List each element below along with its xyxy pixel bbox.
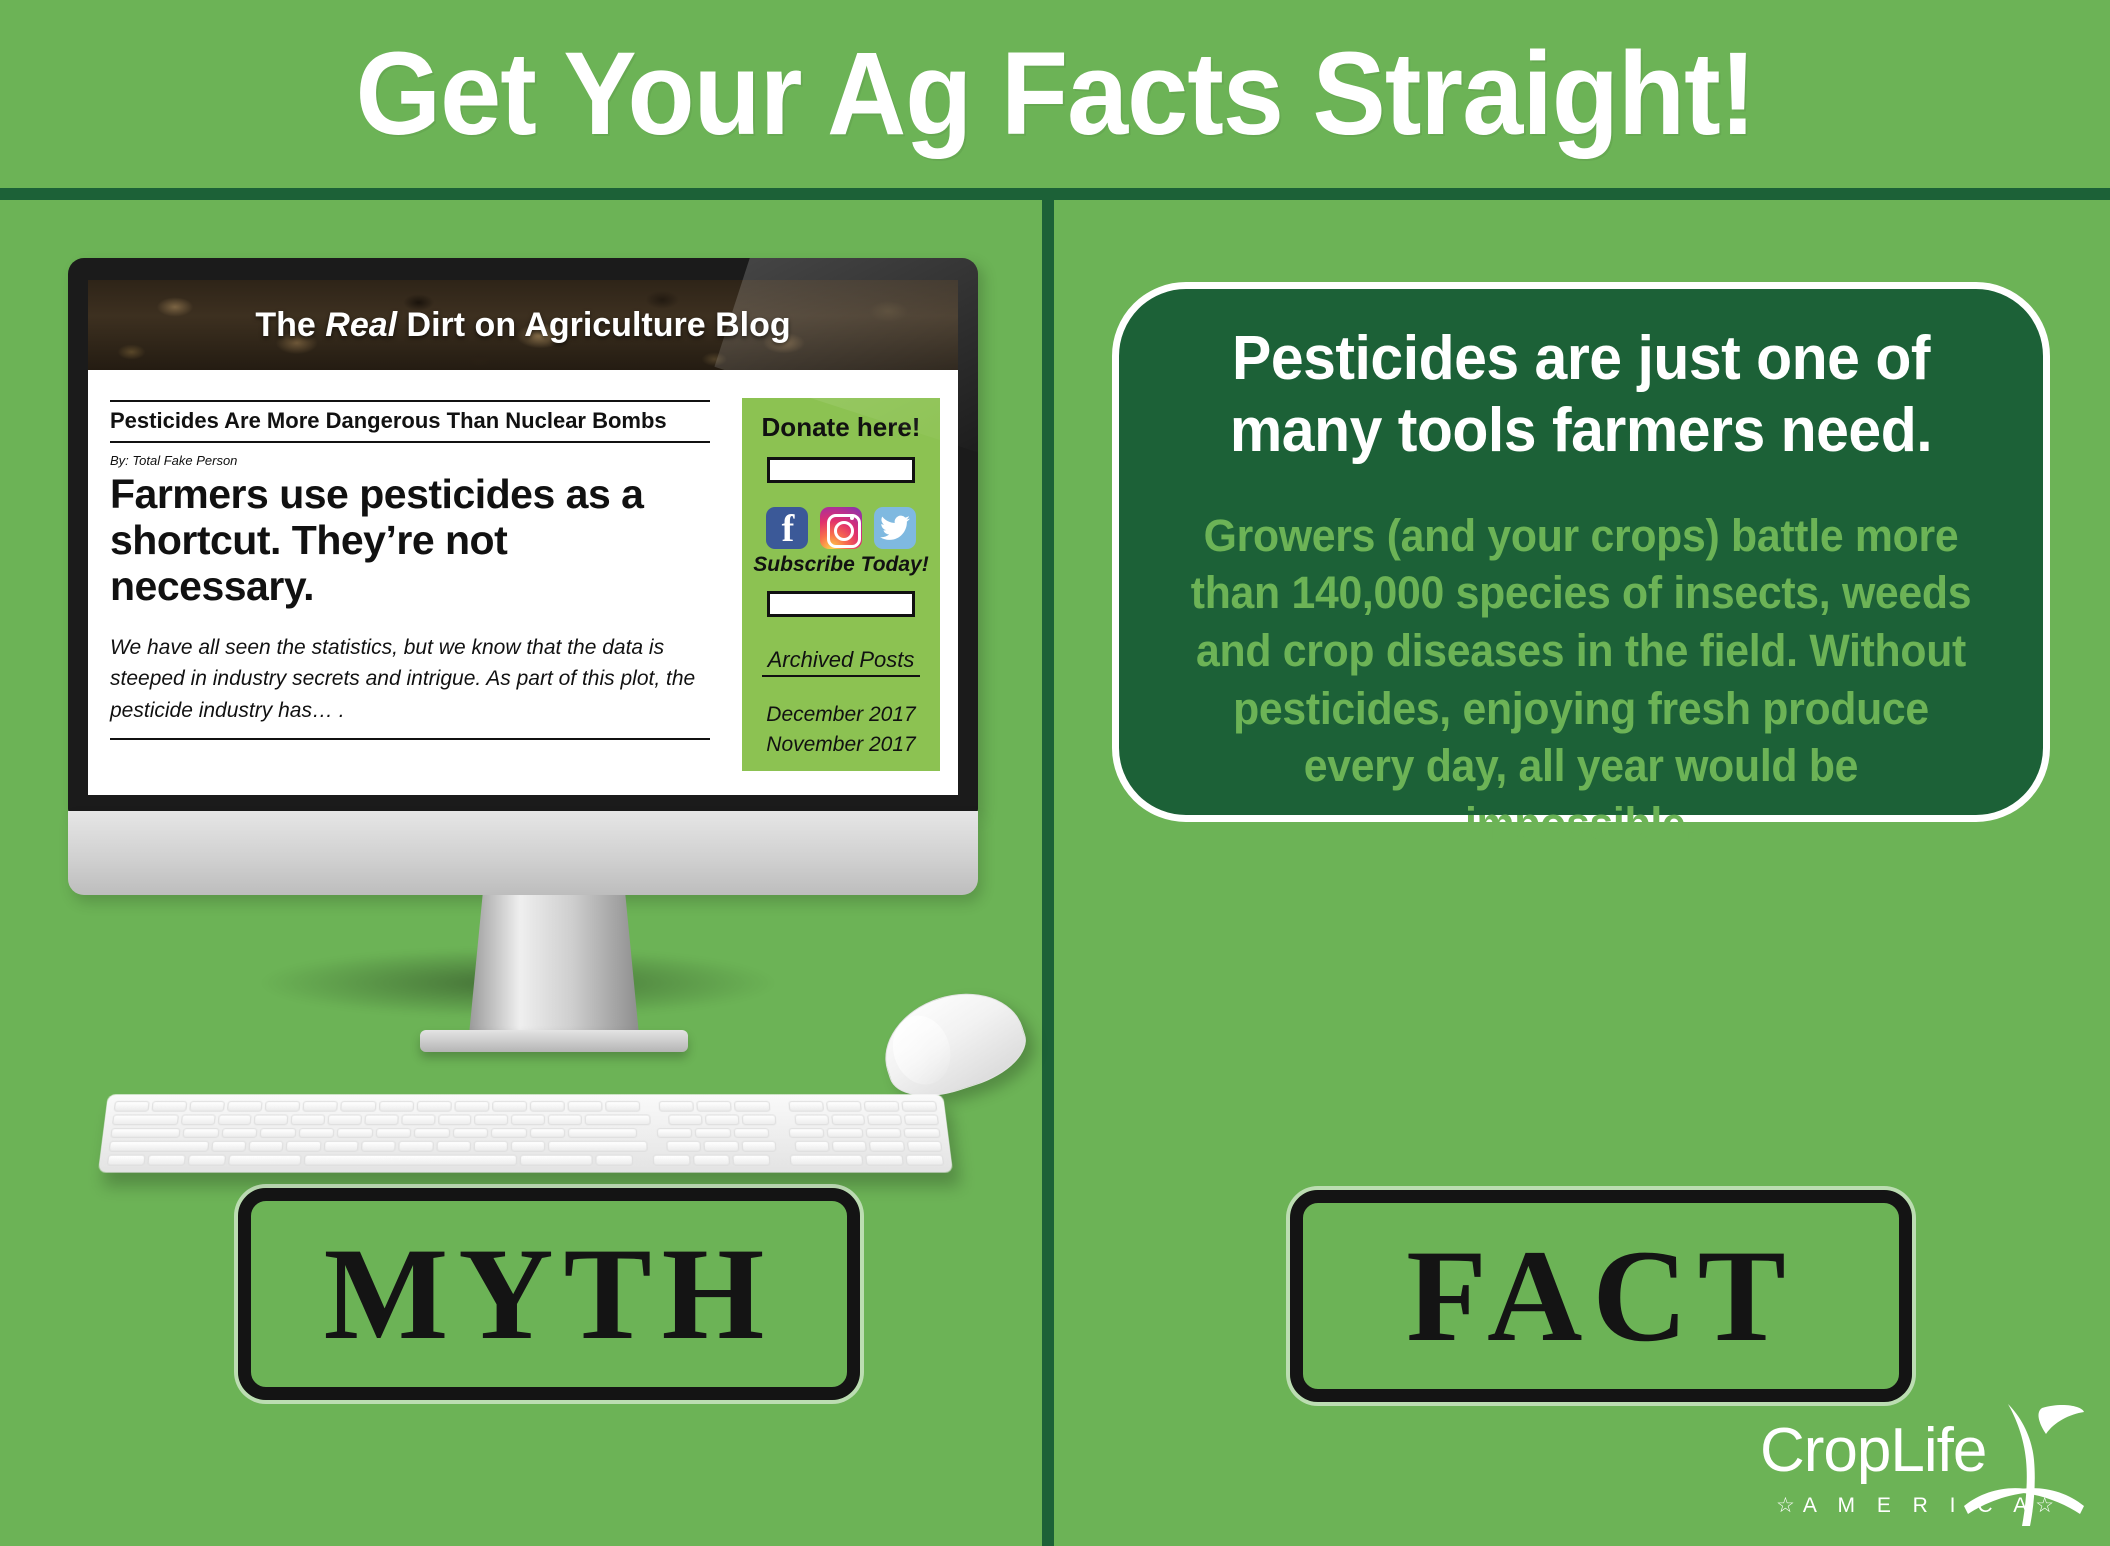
keyboard-key: [211, 1141, 246, 1152]
archive-month-november[interactable]: November 2017: [752, 733, 930, 757]
croplife-america-logo: CropLife ☆A M E R I C A☆: [1760, 1402, 2080, 1530]
keyboard-key: [511, 1141, 545, 1152]
subscribe-heading: Subscribe Today!: [752, 553, 930, 577]
keyboard-key: [249, 1141, 284, 1152]
keyboard-key: [110, 1128, 180, 1139]
keyboard-key: [401, 1114, 435, 1124]
keyboard-key: [865, 1155, 903, 1166]
keyboard-key: [492, 1101, 527, 1111]
keyboard-key: [864, 1101, 900, 1111]
logo-wordmark: CropLife: [1760, 1415, 1986, 1486]
keyboard-key: [436, 1141, 471, 1152]
keyboard-key: [511, 1114, 545, 1124]
logo-star-left: ☆: [1776, 1494, 1803, 1517]
keyboard-key: [734, 1101, 770, 1111]
keyboard-key: [260, 1128, 296, 1139]
donate-heading: Donate here!: [752, 412, 930, 443]
keyboard-key: [734, 1128, 770, 1139]
keyboard-key: [475, 1114, 509, 1124]
keyboard-key: [530, 1101, 565, 1111]
blog-banner-title-post: Dirt on Agriculture Blog: [397, 306, 791, 344]
keyboard-key: [265, 1101, 301, 1111]
monitor-stand-neck: [469, 895, 639, 1035]
fact-headline: Pesticides are just one of many tools fa…: [1184, 323, 1978, 467]
donate-input[interactable]: [767, 457, 915, 483]
desktop-monitor-illustration: The Real Dirt on Agriculture Blog Pestic…: [68, 258, 978, 898]
monitor-chin: [68, 811, 978, 895]
blog-banner-title: The Real Dirt on Agriculture Blog: [255, 306, 790, 345]
keyboard-key: [324, 1141, 359, 1152]
keyboard-key: [152, 1101, 188, 1111]
keyboard-spacer: [779, 1141, 793, 1152]
keyboard-key: [827, 1128, 864, 1139]
keyboard-row: [114, 1101, 938, 1111]
keyboard-key: [901, 1101, 937, 1111]
keyboard-key-command: [228, 1155, 301, 1166]
post-byline: By: Total Fake Person: [110, 443, 710, 472]
keyboard-key: [659, 1101, 694, 1111]
keyboard-row: [107, 1155, 944, 1166]
keyboard-key: [788, 1128, 824, 1139]
myth-stamp-label: MYTH: [324, 1228, 775, 1360]
keyboard-key: [474, 1141, 509, 1152]
instagram-dot: [850, 516, 854, 520]
keyboard-key: [188, 1155, 226, 1166]
keyboard-key: [832, 1141, 867, 1152]
keyboard-spacer: [643, 1101, 657, 1111]
keyboard-key: [438, 1114, 472, 1124]
keyboard-key: [328, 1114, 362, 1124]
keyboard-key: [189, 1101, 225, 1111]
keyboard-key: [865, 1128, 902, 1139]
keyboard-key: [107, 1155, 146, 1166]
post-excerpt: We have all seen the statistics, but we …: [110, 632, 710, 741]
keyboard-key: [794, 1114, 829, 1124]
keyboard-key: [907, 1141, 943, 1152]
keyboard-key: [826, 1101, 862, 1111]
keyboard-key: [221, 1128, 257, 1139]
keyboard-key: [379, 1101, 414, 1111]
keyboard-key: [414, 1128, 450, 1139]
keyboard-key: [742, 1114, 776, 1124]
keyboard-key: [183, 1128, 220, 1139]
keyboard-key: [568, 1101, 603, 1111]
computer-keyboard: [98, 1094, 953, 1172]
keyboard-key: [605, 1101, 640, 1111]
keyboard-key: [669, 1114, 703, 1124]
monitor-stand-base: [420, 1030, 688, 1052]
social-links: [752, 507, 930, 549]
sprout-icon: [1964, 1402, 2084, 1528]
instagram-lens: [834, 521, 854, 541]
keyboard-key: [704, 1141, 739, 1152]
keyboard-key: [695, 1128, 731, 1139]
keyboard-spacer: [772, 1128, 786, 1139]
blog-banner-title-pre: The: [255, 306, 325, 344]
keyboard-key: [112, 1114, 179, 1124]
keyboard-key: [568, 1128, 637, 1139]
keyboard-key: [904, 1114, 939, 1124]
keyboard-key: [585, 1114, 651, 1124]
blog-banner: The Real Dirt on Agriculture Blog: [88, 280, 958, 370]
keyboard-spacer: [778, 1114, 792, 1124]
keyboard-key: [741, 1141, 776, 1152]
keyboard-key: [337, 1128, 373, 1139]
keyboard-key: [453, 1128, 489, 1139]
keyboard-key: [254, 1114, 289, 1124]
twitter-icon[interactable]: [874, 507, 916, 549]
post-kicker: Pesticides Are More Dangerous Than Nucle…: [110, 402, 710, 443]
keyboard-key: [666, 1141, 701, 1152]
keyboard-key: [904, 1128, 941, 1139]
keyboard-key: [181, 1114, 216, 1124]
fact-stamp: FACT: [1290, 1190, 1912, 1402]
fact-panel: Pesticides are just one of many tools fa…: [1112, 282, 2050, 822]
keyboard-key-arrow: [733, 1155, 771, 1166]
keyboard-key: [906, 1155, 945, 1166]
keyboard-key: [530, 1128, 566, 1139]
blog-banner-title-emphasis: Real: [325, 306, 397, 344]
monitor-screen: The Real Dirt on Agriculture Blog Pestic…: [88, 280, 958, 795]
keyboard-key: [303, 1101, 338, 1111]
keyboard-key: [595, 1155, 632, 1166]
blog-post: Pesticides Are More Dangerous Than Nucle…: [88, 370, 732, 795]
keyboard-key: [286, 1141, 321, 1152]
keyboard-key: [416, 1101, 451, 1111]
keyboard-key: [869, 1141, 905, 1152]
blog-sidebar: Donate here! Subscribe Today!: [742, 398, 940, 771]
fact-stamp-label: FACT: [1406, 1230, 1796, 1362]
keyboard-key: [795, 1141, 830, 1152]
keyboard-key: [217, 1114, 252, 1124]
keyboard-row: [109, 1141, 943, 1152]
blog-body: Pesticides Are More Dangerous Than Nucle…: [88, 370, 958, 795]
keyboard-key: [705, 1114, 739, 1124]
facebook-icon[interactable]: [766, 507, 808, 549]
keyboard-key-shift: [548, 1141, 647, 1152]
archive-month-december[interactable]: December 2017: [752, 703, 930, 727]
keyboard-spacer: [773, 1155, 788, 1166]
archived-posts-link[interactable]: Archived Posts: [762, 647, 921, 677]
keyboard-key: [454, 1101, 489, 1111]
keyboard-key: [790, 1155, 863, 1166]
keyboard-key: [697, 1101, 732, 1111]
keyboard-key: [291, 1114, 325, 1124]
keyboard-spacer: [635, 1155, 649, 1166]
keyboard-spacer: [651, 1141, 664, 1152]
keyboard-key: [548, 1114, 582, 1124]
keyboard-key: [341, 1101, 376, 1111]
keyboard-key: [298, 1128, 334, 1139]
keyboard-spacer: [772, 1101, 786, 1111]
keyboard-key-command: [520, 1155, 593, 1166]
keyboard-key: [375, 1128, 411, 1139]
subscribe-input[interactable]: [767, 591, 915, 617]
keyboard-key-space: [303, 1155, 517, 1166]
keyboard-key-shift: [109, 1141, 209, 1152]
keyboard-row: [110, 1128, 940, 1139]
keyboard-key: [491, 1128, 527, 1139]
keyboard-spacer: [653, 1114, 666, 1124]
keyboard-key: [114, 1101, 150, 1111]
keyboard-key: [657, 1128, 693, 1139]
header-divider-rule: [0, 188, 2110, 200]
monitor-bezel: The Real Dirt on Agriculture Blog Pestic…: [68, 258, 978, 813]
keyboard-key: [399, 1141, 434, 1152]
post-headline[interactable]: Farmers use pesticides as a shortcut. Th…: [110, 472, 710, 610]
keyboard-key: [867, 1114, 902, 1124]
keyboard-key-arrow: [653, 1155, 691, 1166]
vertical-divider-rule: [1042, 188, 1054, 1546]
keyboard-key: [227, 1101, 263, 1111]
keyboard-key: [831, 1114, 866, 1124]
keyboard-key: [364, 1114, 398, 1124]
keyboard-key: [147, 1155, 185, 1166]
myth-stamp: MYTH: [238, 1188, 860, 1400]
keyboard-spacer: [640, 1128, 654, 1139]
computer-mouse: [871, 976, 1035, 1109]
page-header: Get Your Ag Facts Straight!: [0, 0, 2110, 188]
keyboard-key: [361, 1141, 396, 1152]
keyboard-row: [112, 1114, 939, 1124]
fact-body-text: Growers (and your crops) battle more tha…: [1184, 507, 1978, 853]
keyboard-key-arrow: [693, 1155, 731, 1166]
page-title: Get Your Ag Facts Straight!: [355, 35, 1755, 153]
keyboard-key: [788, 1101, 824, 1111]
instagram-icon[interactable]: [820, 507, 862, 549]
